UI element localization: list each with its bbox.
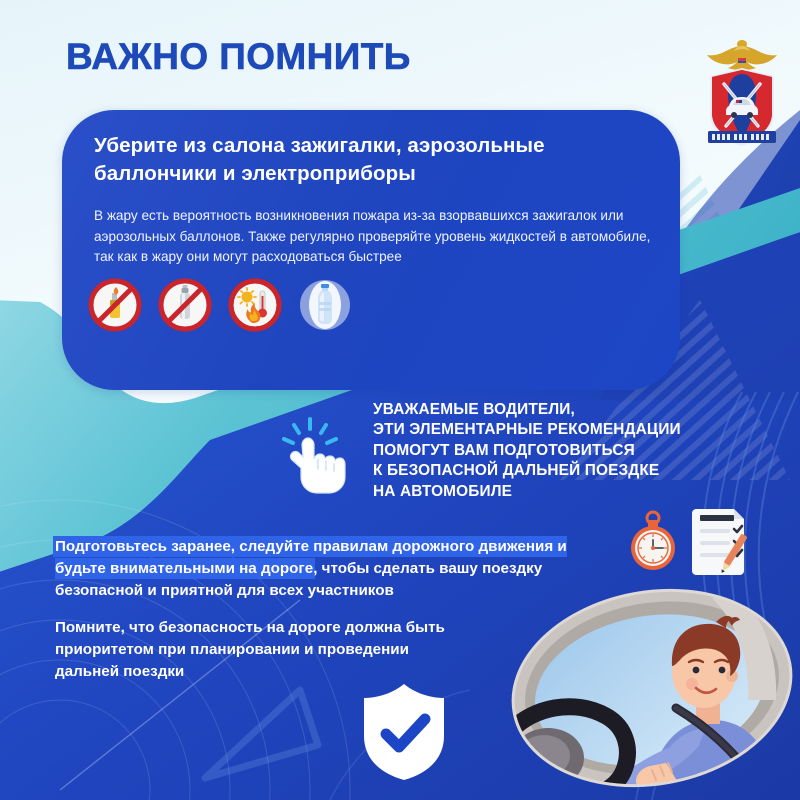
water-bottle-icon <box>298 278 352 332</box>
callout-text: УВАЖАЕМЫЕ ВОДИТЕЛИ, ЭТИ ЭЛЕМЕНТАРНЫЕ РЕК… <box>373 400 773 502</box>
checklist-clipboard-icon <box>686 505 756 577</box>
callout-line-3: ПОМОГУТ ВАМ ПОДГОТОВИТЬСЯ <box>373 441 773 461</box>
mvd-emblem-icon <box>696 34 788 152</box>
callout-line-2: ЭТИ ЭЛЕМЕНТАРНЫЕ РЕКОМЕНДАЦИИ <box>373 420 773 440</box>
no-lighter-icon <box>88 278 142 332</box>
warning-card: Уберите из салона зажигалки, аэрозольные… <box>62 110 680 390</box>
no-heat-fire-icon <box>228 278 282 332</box>
callout-line-1: УВАЖАЕМЫЕ ВОДИТЕЛИ, <box>373 400 773 420</box>
no-aerosol-can-icon <box>158 278 212 332</box>
callout-line-5: НА АВТОМОБИЛЕ <box>373 482 773 502</box>
callout-line-4: К БЕЗОПАСНОЙ ДАЛЬНЕЙ ПОЕЗДКЕ <box>373 461 773 481</box>
card-heading: Уберите из салона зажигалки, аэрозольные… <box>94 132 654 189</box>
driver-in-car-illustration <box>500 580 800 800</box>
card-body-text: В жару есть вероятность возникновения по… <box>94 206 654 268</box>
shield-check-icon <box>358 680 450 784</box>
pointing-hand-cursor-icon <box>272 415 348 499</box>
prohibition-icon-row <box>88 278 352 332</box>
infographic-poster: ВАЖНО ПОМНИТЬ <box>0 0 800 800</box>
page-title: ВАЖНО ПОМНИТЬ <box>66 38 411 75</box>
paragraph-priority: Помните, что безопасность на дороге долж… <box>55 617 475 683</box>
stopwatch-icon <box>622 508 684 574</box>
